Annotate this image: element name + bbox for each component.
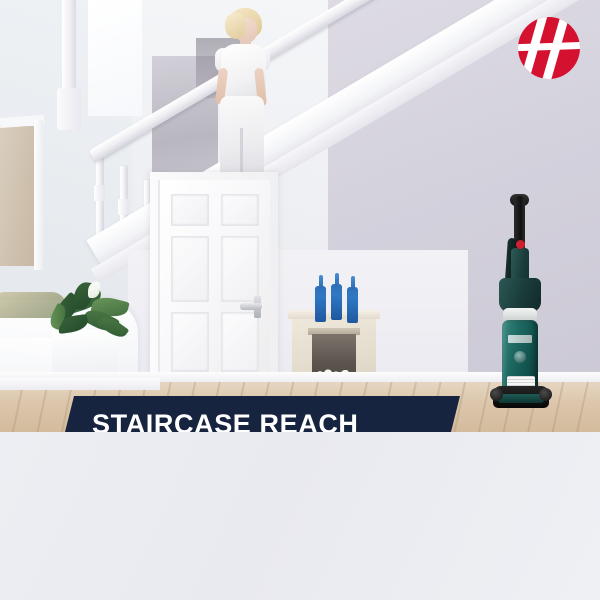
baseboard-left — [0, 378, 160, 390]
newel-post-cap — [57, 88, 81, 130]
vacuum-cleaner — [489, 196, 553, 396]
house-plant — [38, 276, 138, 338]
door-panel — [171, 236, 209, 302]
vacuum-bin-label — [508, 335, 532, 343]
hoover-logo-icon — [518, 17, 580, 79]
lifestyle-photo — [0, 0, 600, 432]
door-panel — [171, 194, 209, 226]
logo-crossbar — [518, 42, 580, 52]
vacuum-motor-housing — [499, 278, 541, 312]
door-panel — [221, 312, 259, 372]
product-feature-ad: STAIRCASE REACH Reaches a full 13-step s… — [0, 0, 600, 600]
door-panel — [171, 312, 209, 372]
baluster — [96, 152, 103, 234]
panel-door — [158, 180, 270, 390]
vacuum-wheel — [539, 388, 552, 401]
vacuum-dial — [514, 351, 526, 363]
vacuum-wheel — [490, 388, 503, 401]
door-handle — [240, 303, 262, 310]
vacuum-head-trim — [498, 394, 544, 403]
door-panel — [221, 236, 259, 302]
blue-bottle — [331, 284, 342, 320]
blue-bottle — [315, 286, 326, 322]
copy-panel: Reaches a full 13-step staircase Clean t… — [0, 432, 600, 600]
vacuum-brand-badge-icon — [516, 240, 525, 249]
hair-front — [225, 13, 245, 39]
door-panel — [221, 194, 259, 226]
blue-bottle — [347, 287, 358, 323]
woman-on-stairs — [210, 8, 280, 188]
